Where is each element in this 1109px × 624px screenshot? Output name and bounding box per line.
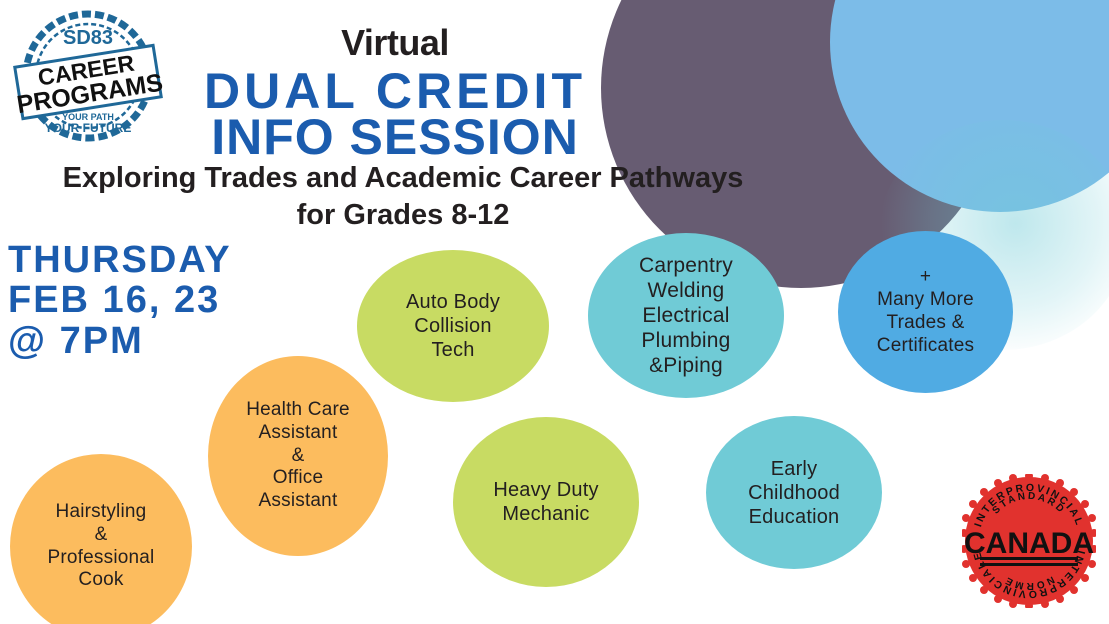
program-label: Health Care Assistant & Office Assistant	[246, 399, 350, 513]
program-label: Early Childhood Education	[748, 457, 840, 529]
program-label: + Many More Trades & Certificates	[877, 266, 974, 357]
program-bubble-hairstyling: Hairstyling & Professional Cook	[10, 454, 192, 624]
program-bubble-healthcare: Health Care Assistant & Office Assistant	[208, 356, 388, 556]
event-day: THURSDAY	[8, 240, 232, 280]
program-label: Heavy Duty Mechanic	[493, 478, 598, 526]
subtitle-line-2: for Grades 8-12	[18, 197, 788, 234]
program-label: Carpentry Welding Electrical Plumbing &P…	[639, 253, 733, 379]
sd83-career-programs-logo: SD83 CAREER PROGRAMS YOUR PATH YOUR FUTU…	[8, 4, 168, 154]
event-time: @ 7PM	[8, 321, 232, 361]
poster-canvas: SD83 CAREER PROGRAMS YOUR PATH YOUR FUTU…	[0, 0, 1109, 624]
red-seal-badge: INTERPROVINCIAL STANDARD CANADA NORME IN…	[962, 474, 1096, 608]
event-datetime: THURSDAY FEB 16, 23 @ 7PM	[8, 240, 232, 361]
program-bubble-heavyduty: Heavy Duty Mechanic	[453, 417, 639, 587]
subtitle-line-1: Exploring Trades and Academic Career Pat…	[63, 162, 744, 194]
program-bubble-autobody: Auto Body Collision Tech	[357, 250, 549, 402]
program-label: Hairstyling & Professional Cook	[48, 501, 155, 592]
event-date: FEB 16, 23	[8, 280, 232, 320]
page-title: DUAL CREDIT INFO SESSION	[185, 68, 605, 160]
page-title-line-2: INFO SESSION	[185, 114, 605, 160]
program-label: Auto Body Collision Tech	[406, 290, 500, 362]
eyebrow-virtual: Virtual	[185, 22, 605, 64]
program-bubble-carpentry: Carpentry Welding Electrical Plumbing &P…	[588, 233, 784, 398]
logo-tagline-2: YOUR FUTURE	[45, 121, 132, 135]
decorative-light-blue-circle	[830, 0, 1109, 212]
program-bubble-many-more: + Many More Trades & Certificates	[838, 231, 1013, 393]
logo-sd83-text: SD83	[63, 27, 113, 49]
red-seal-rule-2	[980, 563, 1078, 566]
page-title-line-1: DUAL CREDIT	[185, 68, 605, 114]
subtitle: Exploring Trades and Academic Career Pat…	[18, 160, 788, 234]
program-bubble-early-childhood: Early Childhood Education	[706, 416, 882, 569]
red-seal-rule-1	[980, 557, 1078, 560]
